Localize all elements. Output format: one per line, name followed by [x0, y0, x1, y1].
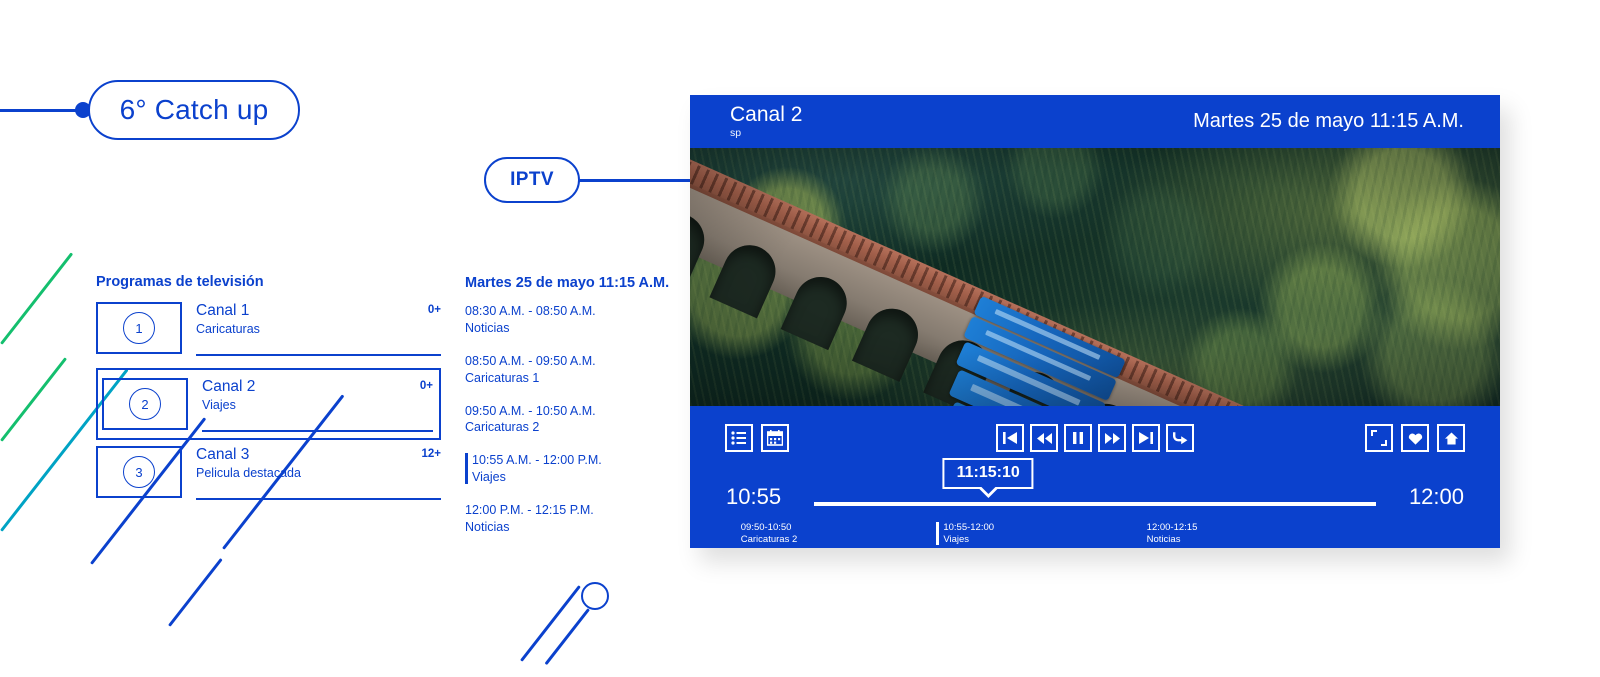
skip-next-icon[interactable] — [1132, 424, 1160, 452]
decorative-diagonal-line — [520, 585, 580, 661]
player-controls: 10:55 12:00 11:15:10 09:50-10:50Caricatu… — [690, 406, 1500, 548]
channel-number-box: 3 — [96, 446, 182, 498]
iptv-leader-line — [578, 179, 693, 182]
skip-previous-icon[interactable] — [996, 424, 1024, 452]
channel-underline — [196, 354, 441, 356]
catchup-badge: 6° Catch up — [88, 80, 300, 140]
timeline-segment-time: 10:55-12:00 — [943, 522, 994, 534]
player-timeline[interactable]: 10:55 12:00 11:15:10 09:50-10:50Caricatu… — [690, 478, 1500, 548]
timeline-progress-bar[interactable]: 11:15:10 — [814, 502, 1376, 506]
schedule-item-current[interactable]: 10:55 A.M. - 12:00 P.M.Viajes — [465, 452, 680, 486]
channel-program: Caricaturas — [196, 322, 441, 336]
decorative-diagonal-line — [0, 357, 67, 441]
catchup-badge-label: 6° Catch up — [120, 94, 269, 126]
timeline-segment[interactable]: 10:55-12:00Viajes — [936, 522, 994, 546]
channel-info: Canal 1Caricaturas0+ — [196, 302, 441, 354]
timeline-end-time: 12:00 — [1409, 484, 1464, 510]
schedule-item-time: 09:50 A.M. - 10:50 A.M. — [465, 403, 680, 420]
player-datetime: Martes 25 de mayo 11:15 A.M. — [1193, 110, 1464, 133]
channel-age-rating: 0+ — [428, 304, 441, 316]
schedule-items: 08:30 A.M. - 08:50 A.M.Noticias08:50 A.M… — [465, 303, 680, 536]
channel-underline — [196, 498, 441, 500]
fullscreen-icon[interactable] — [1365, 424, 1393, 452]
decorative-diagonal-line — [0, 252, 73, 344]
iptv-player: Canal 2 sp Martes 25 de mayo 11:15 A.M. — [690, 95, 1500, 548]
schedule-item-name: Caricaturas 1 — [465, 370, 680, 387]
timeline-segment-name: Noticias — [1147, 534, 1198, 546]
channel-name: Canal 1 — [196, 302, 441, 320]
decorative-circle — [581, 582, 609, 610]
channel-row[interactable]: 3Canal 3Pelicula destacada12+ — [96, 446, 441, 506]
pause-icon[interactable] — [1064, 424, 1092, 452]
player-controls-left — [725, 424, 789, 452]
fast-forward-icon[interactable] — [1098, 424, 1126, 452]
channel-program: Pelicula destacada — [196, 466, 441, 480]
channel-number: 1 — [123, 312, 155, 344]
iptv-badge: IPTV — [484, 157, 580, 203]
schedule-title: Martes 25 de mayo 11:15 A.M. — [465, 275, 680, 291]
timeline-segment[interactable]: 12:00-12:15Noticias — [1147, 522, 1198, 546]
playlist-icon[interactable] — [725, 424, 753, 452]
channel-name: Canal 2 — [202, 378, 433, 396]
decorative-diagonal-line — [168, 558, 222, 627]
timeline-start-time: 10:55 — [726, 484, 781, 510]
schedule-item-name: Caricaturas 2 — [465, 419, 680, 436]
video-vignette — [690, 148, 1500, 406]
channel-number-box: 1 — [96, 302, 182, 354]
schedule-item-time: 08:50 A.M. - 09:50 A.M. — [465, 353, 680, 370]
player-controls-right — [1365, 424, 1465, 452]
channel-name: Canal 3 — [196, 446, 441, 464]
channel-program: Viajes — [202, 398, 433, 412]
channel-rows: 1Canal 1Caricaturas0+2Canal 2Viajes0+3Ca… — [96, 302, 441, 506]
iptv-badge-label: IPTV — [510, 169, 554, 191]
rewind-icon[interactable] — [1030, 424, 1058, 452]
schedule-item[interactable]: 08:50 A.M. - 09:50 A.M.Caricaturas 1 — [465, 353, 680, 387]
player-channel-name: Canal 2 — [730, 104, 802, 125]
channel-list: Programas de televisión 1Canal 1Caricatu… — [96, 274, 441, 516]
channel-number: 2 — [129, 388, 161, 420]
player-header: Canal 2 sp Martes 25 de mayo 11:15 A.M. — [690, 95, 1500, 148]
timeline-segment-time: 12:00-12:15 — [1147, 522, 1198, 534]
schedule-item-name: Noticias — [465, 519, 680, 536]
schedule-item[interactable]: 09:50 A.M. - 10:50 A.M.Caricaturas 2 — [465, 403, 680, 437]
schedule-item-name: Viajes — [472, 469, 680, 486]
timeline-playhead-tooltip: 11:15:10 — [943, 458, 1034, 489]
page-root: 6° Catch up IPTV Programas de televisión… — [0, 0, 1600, 677]
channel-info: Canal 3Pelicula destacada12+ — [196, 446, 441, 498]
timeline-segment-name: Caricaturas 2 — [741, 534, 798, 546]
channel-age-rating: 12+ — [421, 448, 441, 460]
schedule-item-name: Noticias — [465, 320, 680, 337]
calendar-icon[interactable] — [761, 424, 789, 452]
home-icon[interactable] — [1437, 424, 1465, 452]
channel-list-title: Programas de televisión — [96, 274, 441, 290]
channel-number: 3 — [123, 456, 155, 488]
schedule-list: Martes 25 de mayo 11:15 A.M. 08:30 A.M. … — [465, 275, 680, 552]
schedule-item-time: 08:30 A.M. - 08:50 A.M. — [465, 303, 680, 320]
channel-row[interactable]: 1Canal 1Caricaturas0+ — [96, 302, 441, 362]
player-channel-block: Canal 2 sp — [730, 104, 802, 139]
decorative-circle-leader-line — [545, 608, 590, 665]
schedule-item-time: 12:00 P.M. - 12:15 P.M. — [465, 502, 680, 519]
timeline-segment-time: 09:50-10:50 — [741, 522, 798, 534]
schedule-item-time: 10:55 A.M. - 12:00 P.M. — [472, 452, 680, 469]
schedule-item[interactable]: 08:30 A.M. - 08:50 A.M.Noticias — [465, 303, 680, 337]
channel-info: Canal 2Viajes0+ — [202, 378, 433, 430]
channel-number-box: 2 — [102, 378, 188, 430]
channel-underline — [202, 430, 433, 432]
replay-arrow-icon[interactable] — [1166, 424, 1194, 452]
player-controls-center — [996, 424, 1194, 452]
channel-row-selected[interactable]: 2Canal 2Viajes0+ — [96, 368, 441, 440]
catchup-leader-line — [0, 109, 80, 112]
channel-age-rating: 0+ — [420, 380, 433, 392]
timeline-segment-name: Viajes — [943, 534, 994, 546]
player-language: sp — [730, 128, 802, 139]
video-surface[interactable] — [690, 148, 1500, 406]
schedule-item[interactable]: 12:00 P.M. - 12:15 P.M.Noticias — [465, 502, 680, 536]
timeline-segment[interactable]: 09:50-10:50Caricaturas 2 — [741, 522, 798, 546]
favorite-heart-icon[interactable] — [1401, 424, 1429, 452]
